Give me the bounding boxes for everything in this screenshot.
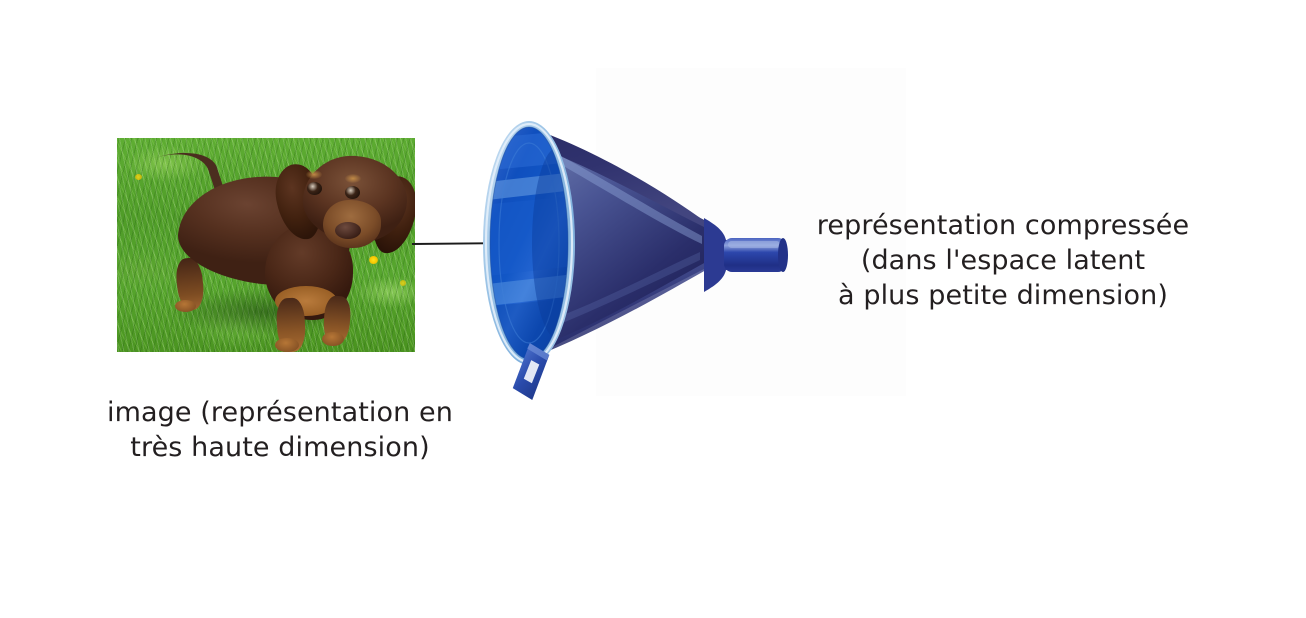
- dachshund-dog: [117, 138, 415, 352]
- blue-funnel-illustration: [480, 110, 800, 400]
- dog-paw: [322, 332, 344, 346]
- dog-eyebrow: [345, 174, 361, 183]
- dog-nose: [335, 222, 361, 239]
- dog-eye: [307, 182, 322, 195]
- diagram-canvas: image (représentation en très haute dime…: [0, 0, 1306, 618]
- dog-photo: [117, 138, 415, 352]
- dog-paw: [275, 338, 299, 352]
- dog-paw: [175, 300, 196, 312]
- dog-eye: [345, 186, 360, 199]
- input-caption: image (représentation en très haute dime…: [60, 395, 500, 465]
- output-caption: représentation compressée (dans l'espace…: [768, 208, 1238, 313]
- dog-eyebrow: [306, 170, 322, 179]
